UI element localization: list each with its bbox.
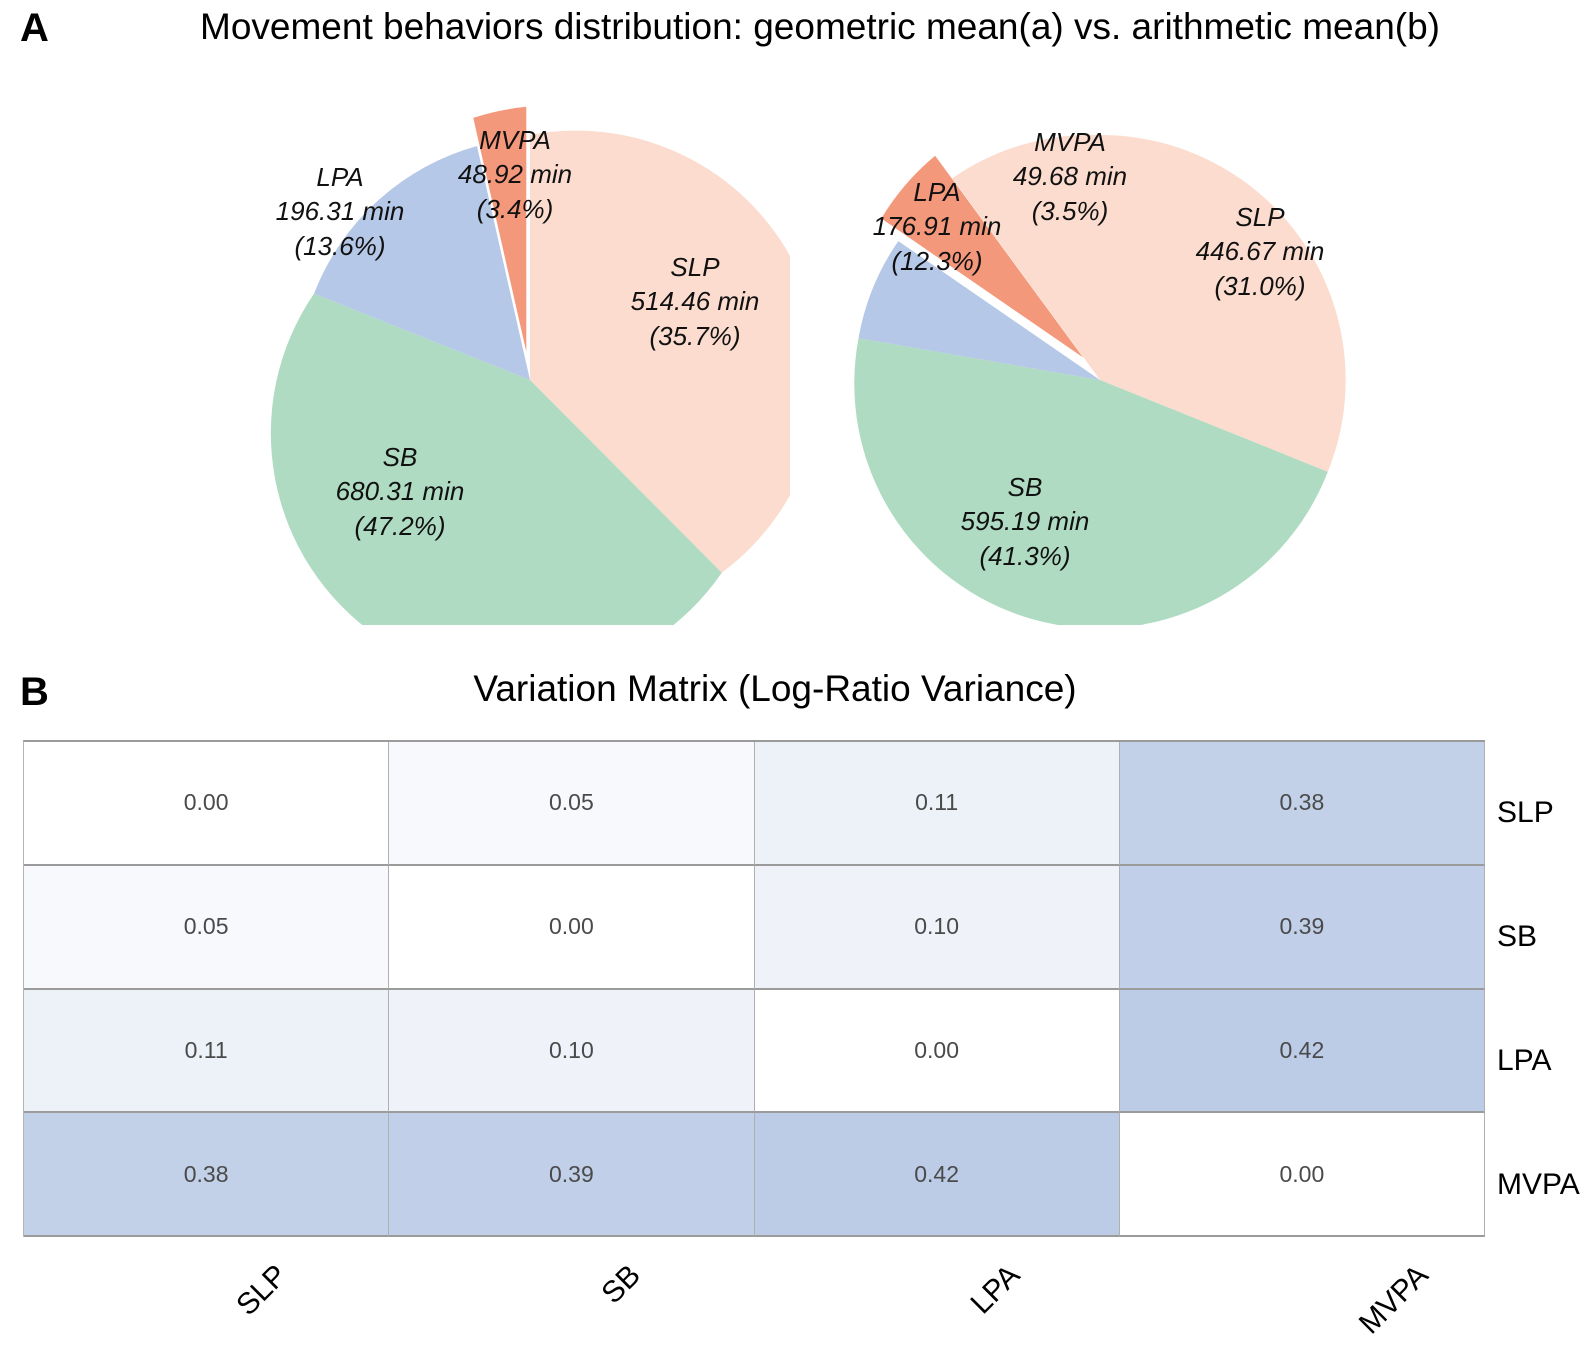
heatmap-cell: 0.00 [389, 866, 754, 990]
variation-matrix-heatmap: 0.00 0.05 0.11 0.38 0.05 0.00 0.10 0.39 … [23, 740, 1485, 1237]
panel-a: A Movement behaviors distribution: geome… [0, 0, 1594, 660]
heatmap-cell: 0.10 [755, 866, 1120, 990]
heatmap-cell: 0.42 [755, 1113, 1120, 1237]
heatmap-cell: 0.39 [1120, 866, 1485, 990]
heatmap-col-label-lpa: LPA [966, 1260, 1026, 1320]
panel-b: B Variation Matrix (Log-Ratio Variance) … [0, 660, 1594, 1353]
panel-b-title: Variation Matrix (Log-Ratio Variance) [60, 670, 1490, 709]
heatmap-cell: 0.42 [1120, 990, 1485, 1114]
panel-a-title: Movement behaviors distribution: geometr… [60, 8, 1580, 47]
heatmap-col-label-mvpa: MVPA [1354, 1260, 1434, 1340]
heatmap-col-label-slp: SLP [232, 1260, 293, 1321]
arithmetic-mean-pie-svg [840, 95, 1360, 625]
heatmap-cell: 0.05 [24, 866, 389, 990]
heatmap-row-label-sb: SB [1497, 922, 1537, 952]
heatmap-cell: 0.38 [24, 1113, 389, 1237]
heatmap-row-label-slp: SLP [1497, 798, 1554, 828]
panel-b-letter: B [20, 672, 49, 712]
heatmap-cell: 0.05 [389, 742, 754, 866]
heatmap-cell: 0.39 [389, 1113, 754, 1237]
heatmap-cell: 0.00 [755, 990, 1120, 1114]
geometric-mean-pie-chart: SLP 514.46 min (35.7%) SB 680.31 min (47… [270, 95, 790, 625]
arithmetic-mean-pie-chart: SLP 446.67 min (31.0%) SB 595.19 min (41… [840, 95, 1360, 625]
panel-a-letter: A [20, 8, 49, 48]
heatmap-cell: 0.11 [24, 990, 389, 1114]
geometric-mean-pie-svg [270, 95, 790, 625]
heatmap-cell: 0.00 [24, 742, 389, 866]
heatmap-col-label-sb: SB [597, 1260, 647, 1310]
heatmap-cell: 0.00 [1120, 1113, 1485, 1237]
heatmap-cell: 0.10 [389, 990, 754, 1114]
heatmap-row-label-lpa: LPA [1497, 1046, 1551, 1076]
heatmap-row-label-mvpa: MVPA [1497, 1170, 1580, 1200]
heatmap-cell: 0.38 [1120, 742, 1485, 866]
heatmap-cell: 0.11 [755, 742, 1120, 866]
